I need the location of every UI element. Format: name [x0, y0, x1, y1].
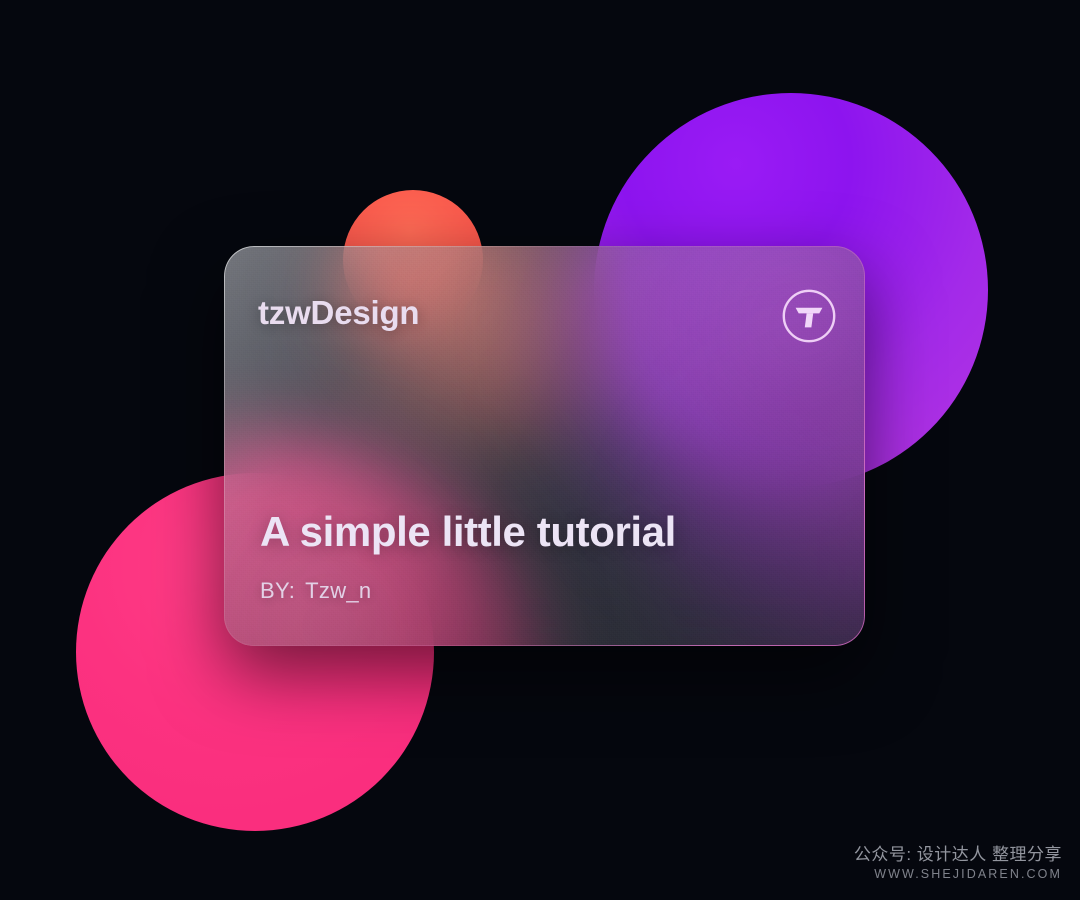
watermark-primary-text: 公众号: 设计达人 整理分享 [854, 844, 1062, 865]
byline-value: Tzw_n [305, 578, 371, 603]
watermark: 公众号: 设计达人 整理分享 WWW.SHEJIDAREN.COM [854, 844, 1062, 884]
glass-card[interactable]: tzwDesign A simple little tutorial BY:Tz… [224, 246, 865, 646]
brand-name: tzwDesign [258, 294, 419, 332]
canvas: tzwDesign A simple little tutorial BY:Tz… [0, 0, 1080, 900]
card-content: tzwDesign A simple little tutorial BY:Tz… [224, 246, 865, 646]
watermark-url: WWW.SHEJIDAREN.COM [854, 865, 1062, 884]
byline-label: BY: [260, 578, 295, 603]
card-byline: BY:Tzw_n [260, 578, 371, 604]
t-monogram-circle-icon[interactable] [781, 288, 837, 344]
card-title: A simple little tutorial [260, 508, 676, 556]
